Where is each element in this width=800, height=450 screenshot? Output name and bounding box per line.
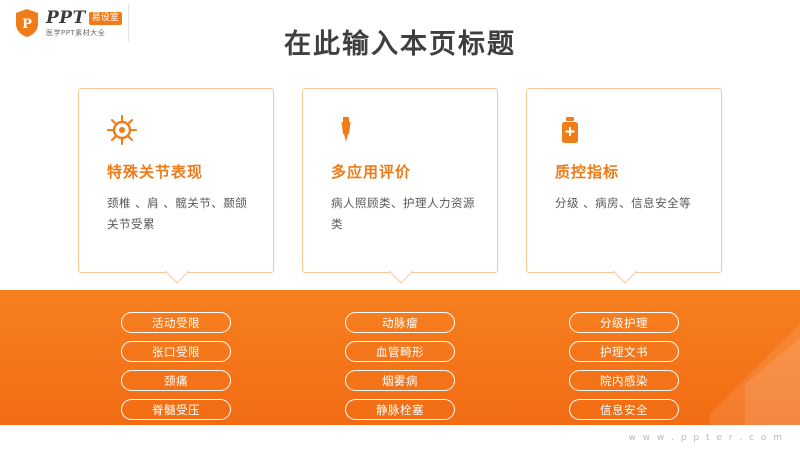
band-corner-highlight-2 (745, 290, 800, 425)
card-pointer (611, 271, 637, 285)
pill-item[interactable]: 张口受限 (121, 341, 231, 362)
card-pointer (163, 271, 189, 285)
card-heading: 多应用评价 (331, 161, 411, 182)
pill-item[interactable]: 脊髓受压 (121, 399, 231, 420)
card-heading: 特殊关节表现 (107, 161, 203, 182)
pill-column: 活动受限 张口受限 颈痛 脊髓受压 (78, 312, 274, 420)
info-card: 多应用评价 病人照顾类、护理人力资源类 (302, 88, 498, 273)
info-card: 特殊关节表现 颈椎 、肩 、髋关节、颞颌关节受累 (78, 88, 274, 273)
pen-icon (331, 115, 359, 145)
bottle-icon (555, 115, 583, 145)
page-title: 在此输入本页标题 (0, 22, 800, 61)
pill-item[interactable]: 血管畸形 (345, 341, 455, 362)
card-heading: 质控指标 (555, 161, 619, 182)
pill-item[interactable]: 烟雾病 (345, 370, 455, 391)
info-card: 质控指标 分级 、病房、信息安全等 (526, 88, 722, 273)
pill-item[interactable]: 动脉瘤 (345, 312, 455, 333)
virus-icon (107, 115, 135, 145)
pill-item[interactable]: 静脉栓塞 (345, 399, 455, 420)
pill-item[interactable]: 院内感染 (569, 370, 679, 391)
card-pointer (387, 271, 413, 285)
pill-item[interactable]: 活动受限 (121, 312, 231, 333)
footer-watermark: w w w . p p t e r . c o m (628, 433, 784, 443)
pill-item[interactable]: 颈痛 (121, 370, 231, 391)
pill-column: 动脉瘤 血管畸形 烟雾病 静脉栓塞 (302, 312, 498, 420)
card-body: 分级 、病房、信息安全等 (555, 193, 705, 214)
card-body: 病人照顾类、护理人力资源类 (331, 193, 481, 235)
pill-column: 分级护理 护理文书 院内感染 信息安全 (526, 312, 722, 420)
pill-item[interactable]: 护理文书 (569, 341, 679, 362)
pill-item[interactable]: 分级护理 (569, 312, 679, 333)
card-body: 颈椎 、肩 、髋关节、颞颌关节受累 (107, 193, 257, 235)
pill-item[interactable]: 信息安全 (569, 399, 679, 420)
